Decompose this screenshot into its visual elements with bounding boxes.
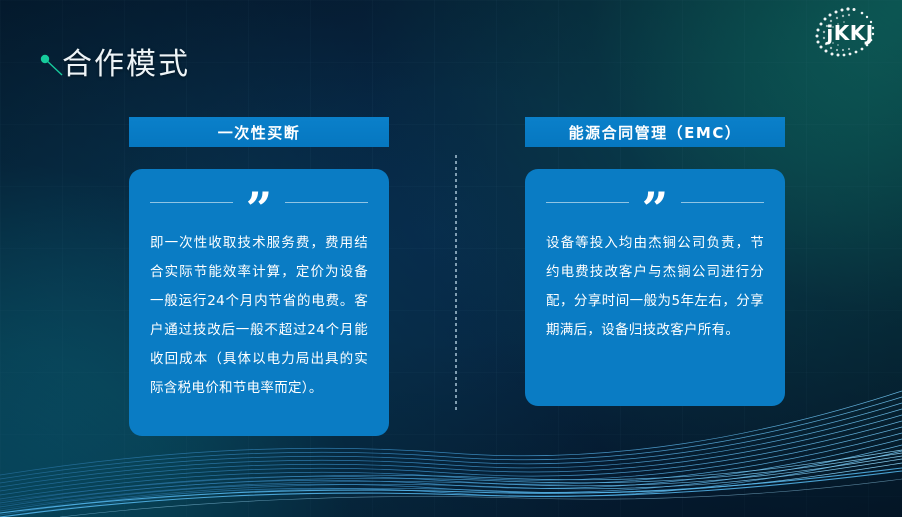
jkkj-logo: jKKJ (806, 2, 892, 60)
quote-rule-right-a (546, 202, 629, 203)
card-header-left: 一次性买断 (129, 117, 389, 147)
card-body-left: ” 即一次性收取技术服务费，费用结合实际节能效率计算，定价为设备一般运行24个月… (129, 169, 389, 436)
quote-divider-left: ” (150, 187, 368, 217)
quote-rule-left-b (285, 202, 368, 203)
quote-rule-right-b (681, 202, 764, 203)
quote-divider-right: ” (546, 187, 764, 217)
column-emc: 能源合同管理（EMC） ” 设备等投入均由杰锏公司负责，节约电费技改客户与杰锏公… (525, 117, 785, 406)
card-body-right: ” 设备等投入均由杰锏公司负责，节约电费技改客户与杰锏公司进行分配，分享时间一般… (525, 169, 785, 406)
card-text-right: 设备等投入均由杰锏公司负责，节约电费技改客户与杰锏公司进行分配，分享时间一般为5… (546, 229, 764, 345)
card-text-left: 即一次性收取技术服务费，费用结合实际节能效率计算，定价为设备一般运行24个月内节… (150, 229, 368, 403)
card-header-right: 能源合同管理（EMC） (525, 117, 785, 147)
column-one-time-buyout: 一次性买断 ” 即一次性收取技术服务费，费用结合实际节能效率计算，定价为设备一般… (129, 117, 389, 436)
quote-rule-left-a (150, 202, 233, 203)
slide-canvas: jKKJ 合作模式 一次性买断 ” (0, 0, 902, 517)
column-divider (455, 155, 457, 413)
page-title: 合作模式 (62, 39, 190, 83)
svg-text:jKKJ: jKKJ (825, 21, 873, 45)
